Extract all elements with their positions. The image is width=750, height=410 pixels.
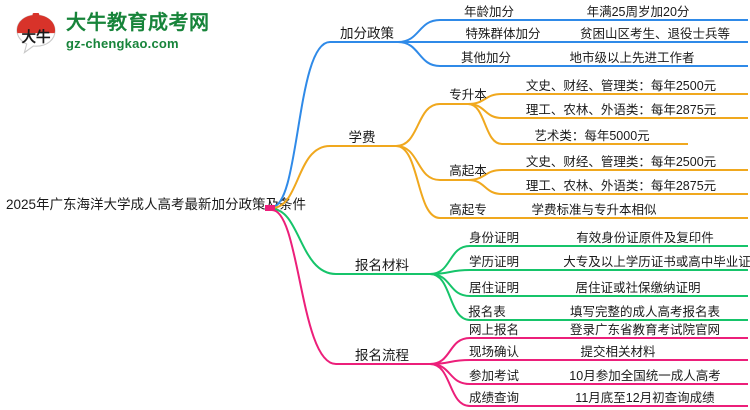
node-xuefei-child-2[interactable]: 高起专 [449,202,487,219]
node-cailiao-detail-0[interactable]: 有效身份证原件及复印件 [576,230,714,247]
svg-text:大牛: 大牛 [22,28,51,46]
branch-label-xuefei[interactable]: 学费 [349,129,376,146]
node-liucheng-child-1[interactable]: 现场确认 [469,344,519,361]
logo-domain-text: gz-chengkao.com [66,35,256,52]
node-cailiao-detail-2[interactable]: 居住证或社保缴纳证明 [575,280,700,297]
node-jiafen-child-0[interactable]: 年龄加分 [464,4,514,21]
mindmap-root-title: 2025年广东海洋大学成人高考最新加分政策及条件 [6,196,306,214]
node-cailiao-child-2[interactable]: 居住证明 [469,280,519,297]
node-liucheng-detail-0[interactable]: 登录广东省教育考试院官网 [570,322,720,339]
node-liucheng-child-2[interactable]: 参加考试 [469,368,519,385]
site-logo[interactable]: 大牛 大牛教育成考网 gz-chengkao.com [14,10,254,58]
branch-label-liucheng[interactable]: 报名流程 [355,347,409,364]
mindmap-canvas: 大牛 大牛教育成考网 gz-chengkao.com 2025年广东海洋大学成人… [0,0,750,410]
node-liucheng-detail-3[interactable]: 11月底至12月初查询成绩 [575,390,714,407]
node-liucheng-detail-1[interactable]: 提交相关材料 [580,344,655,361]
node-xuefei-0-grand-1[interactable]: 理工、农林、外语类：每年2875元 [526,102,716,119]
node-cailiao-detail-3[interactable]: 填写完整的成人高考报名表 [570,304,720,321]
branch-label-jiafen[interactable]: 加分政策 [340,25,394,42]
node-jiafen-child-1[interactable]: 特殊群体加分 [465,26,540,43]
node-xuefei-detail-2[interactable]: 学费标准与专升本相似 [531,202,656,219]
node-xuefei-0-grand-0[interactable]: 文史、财经、管理类：每年2500元 [526,78,716,95]
speech-bubble-logo-icon: 大牛 [14,12,58,56]
node-xuefei-0-grand-2[interactable]: 艺术类：每年5000元 [534,128,649,145]
node-xuefei-child-1[interactable]: 高起本 [449,163,487,180]
node-xuefei-1-grand-1[interactable]: 理工、农林、外语类：每年2875元 [526,178,716,195]
node-jiafen-detail-2[interactable]: 地市级以上先进工作者 [569,50,694,67]
node-jiafen-detail-0[interactable]: 年满25周岁加20分 [587,4,690,21]
node-jiafen-child-2[interactable]: 其他加分 [461,50,511,67]
branch-label-cailiao[interactable]: 报名材料 [355,257,409,274]
node-cailiao-child-3[interactable]: 报名表 [468,304,506,321]
node-cailiao-detail-1[interactable]: 大专及以上学历证书或高中毕业证 [563,254,750,271]
node-cailiao-child-1[interactable]: 学历证明 [469,254,519,271]
logo-title-text: 大牛教育成考网 [66,11,256,35]
node-jiafen-detail-1[interactable]: 贫困山区考生、退役士兵等 [580,26,730,43]
node-liucheng-detail-2[interactable]: 10月参加全国统一成人高考 [569,368,720,385]
node-liucheng-child-3[interactable]: 成绩查询 [469,390,519,407]
node-liucheng-child-0[interactable]: 网上报名 [469,322,519,339]
node-xuefei-1-grand-0[interactable]: 文史、财经、管理类：每年2500元 [526,154,716,171]
node-cailiao-child-0[interactable]: 身份证明 [469,230,519,247]
node-xuefei-child-0[interactable]: 专升本 [449,87,487,104]
